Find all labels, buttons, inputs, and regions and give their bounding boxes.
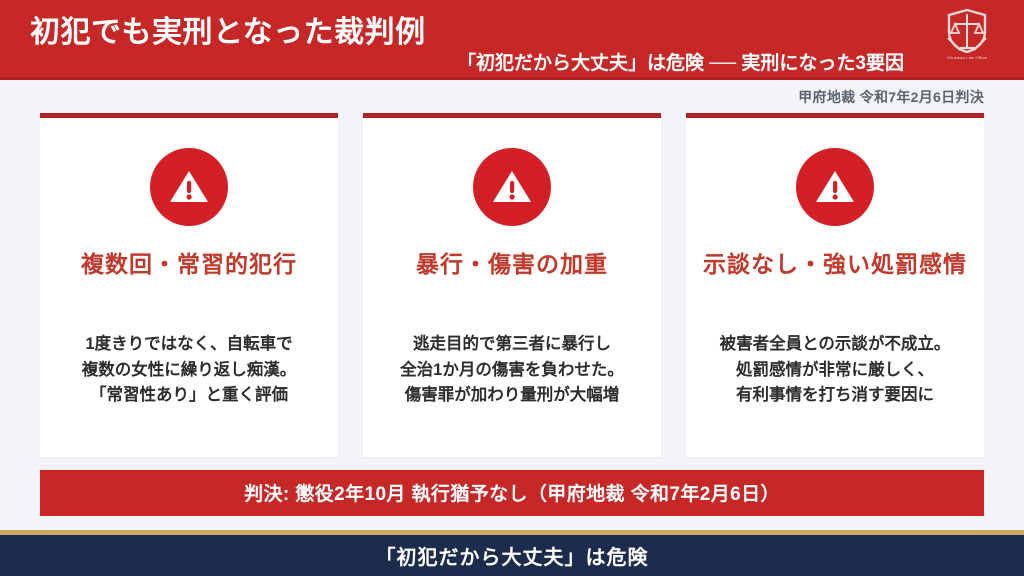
factor-card-body-line: 被害者全員との示談が不成立。 (720, 332, 951, 358)
factor-card-heading: 複数回・常習的犯行 (81, 250, 297, 280)
factor-card-1: 複数回・常習的犯行 1度きりではなく、自転車で 複数の女性に繰り返し痴漢。 「常… (40, 113, 338, 457)
slide-root: 初犯でも実刑となった裁判例 「初犯だから大丈夫」は危険 ── 実刑になった3要因… (0, 0, 1024, 576)
factor-card-body: 1度きりではなく、自転車で 複数の女性に繰り返し痴漢。 「常習性あり」と重く評価 (68, 332, 311, 409)
page-subtitle: 「初犯だから大丈夫」は危険 ── 実刑になった3要因 (457, 48, 904, 75)
slide-header: 初犯でも実刑となった裁判例 「初犯だから大丈夫」は危険 ── 実刑になった3要因… (0, 0, 1024, 80)
factor-card-body-line: 1度きりではなく、自転車で (82, 332, 297, 358)
factor-card-body-line: 処罰感情が非常に厳しく、 (720, 358, 951, 384)
warning-triangle-icon (150, 148, 228, 226)
factor-card-body-line: 有利事情を打ち消す要因に (720, 383, 951, 409)
warning-triangle-icon (473, 148, 551, 226)
page-title: 初犯でも実刑となった裁判例 (30, 7, 426, 51)
factor-card-heading: 示談なし・強い処罰感情 (703, 250, 967, 280)
logo-caption: Chukawa Law Office (947, 55, 987, 60)
verdict-banner-wrap: 判決: 懲役2年10月 執行猶予なし（甲府地裁 令和7年2月6日） (0, 457, 1024, 516)
footer-text: 「初犯だから大丈夫」は危険 (376, 541, 649, 570)
factor-card-3: 示談なし・強い処罰感情 被害者全員との示談が不成立。 処罰感情が非常に厳しく、 … (686, 113, 984, 457)
shield-scales-logo: Chukawa Law Office (934, 8, 1000, 74)
factor-card-body-line: 複数の女性に繰り返し痴漢。 (82, 358, 297, 384)
factor-card-2: 暴行・傷害の加重 逃走目的で第三者に暴行し 全治1か月の傷害を負わせた。 傷害罪… (363, 113, 661, 457)
factor-card-body-line: 「常習性あり」と重く評価 (82, 383, 297, 409)
factor-card-body: 被害者全員との示談が不成立。 処罰感情が非常に厳しく、 有利事情を打ち消す要因に (706, 332, 965, 409)
factor-cards: 複数回・常習的犯行 1度きりではなく、自転車で 複数の女性に繰り返し痴漢。 「常… (0, 113, 1024, 457)
verdict-banner: 判決: 懲役2年10月 執行猶予なし（甲府地裁 令和7年2月6日） (40, 470, 984, 516)
factor-card-heading: 暴行・傷害の加重 (416, 250, 608, 280)
factor-card-body-line: 逃走目的で第三者に暴行し (400, 332, 624, 358)
warning-triangle-icon (796, 148, 874, 226)
court-reference: 甲府地裁 令和7年2月6日判決 (0, 80, 1024, 113)
factor-card-body: 逃走目的で第三者に暴行し 全治1か月の傷害を負わせた。 傷害罪が加わり量刑が大幅… (386, 332, 638, 409)
factor-card-body-line: 全治1か月の傷害を負わせた。 (400, 358, 624, 384)
factor-card-body-line: 傷害罪が加わり量刑が大幅増 (400, 383, 624, 409)
slide-footer: 「初犯だから大丈夫」は危険 (0, 530, 1024, 576)
